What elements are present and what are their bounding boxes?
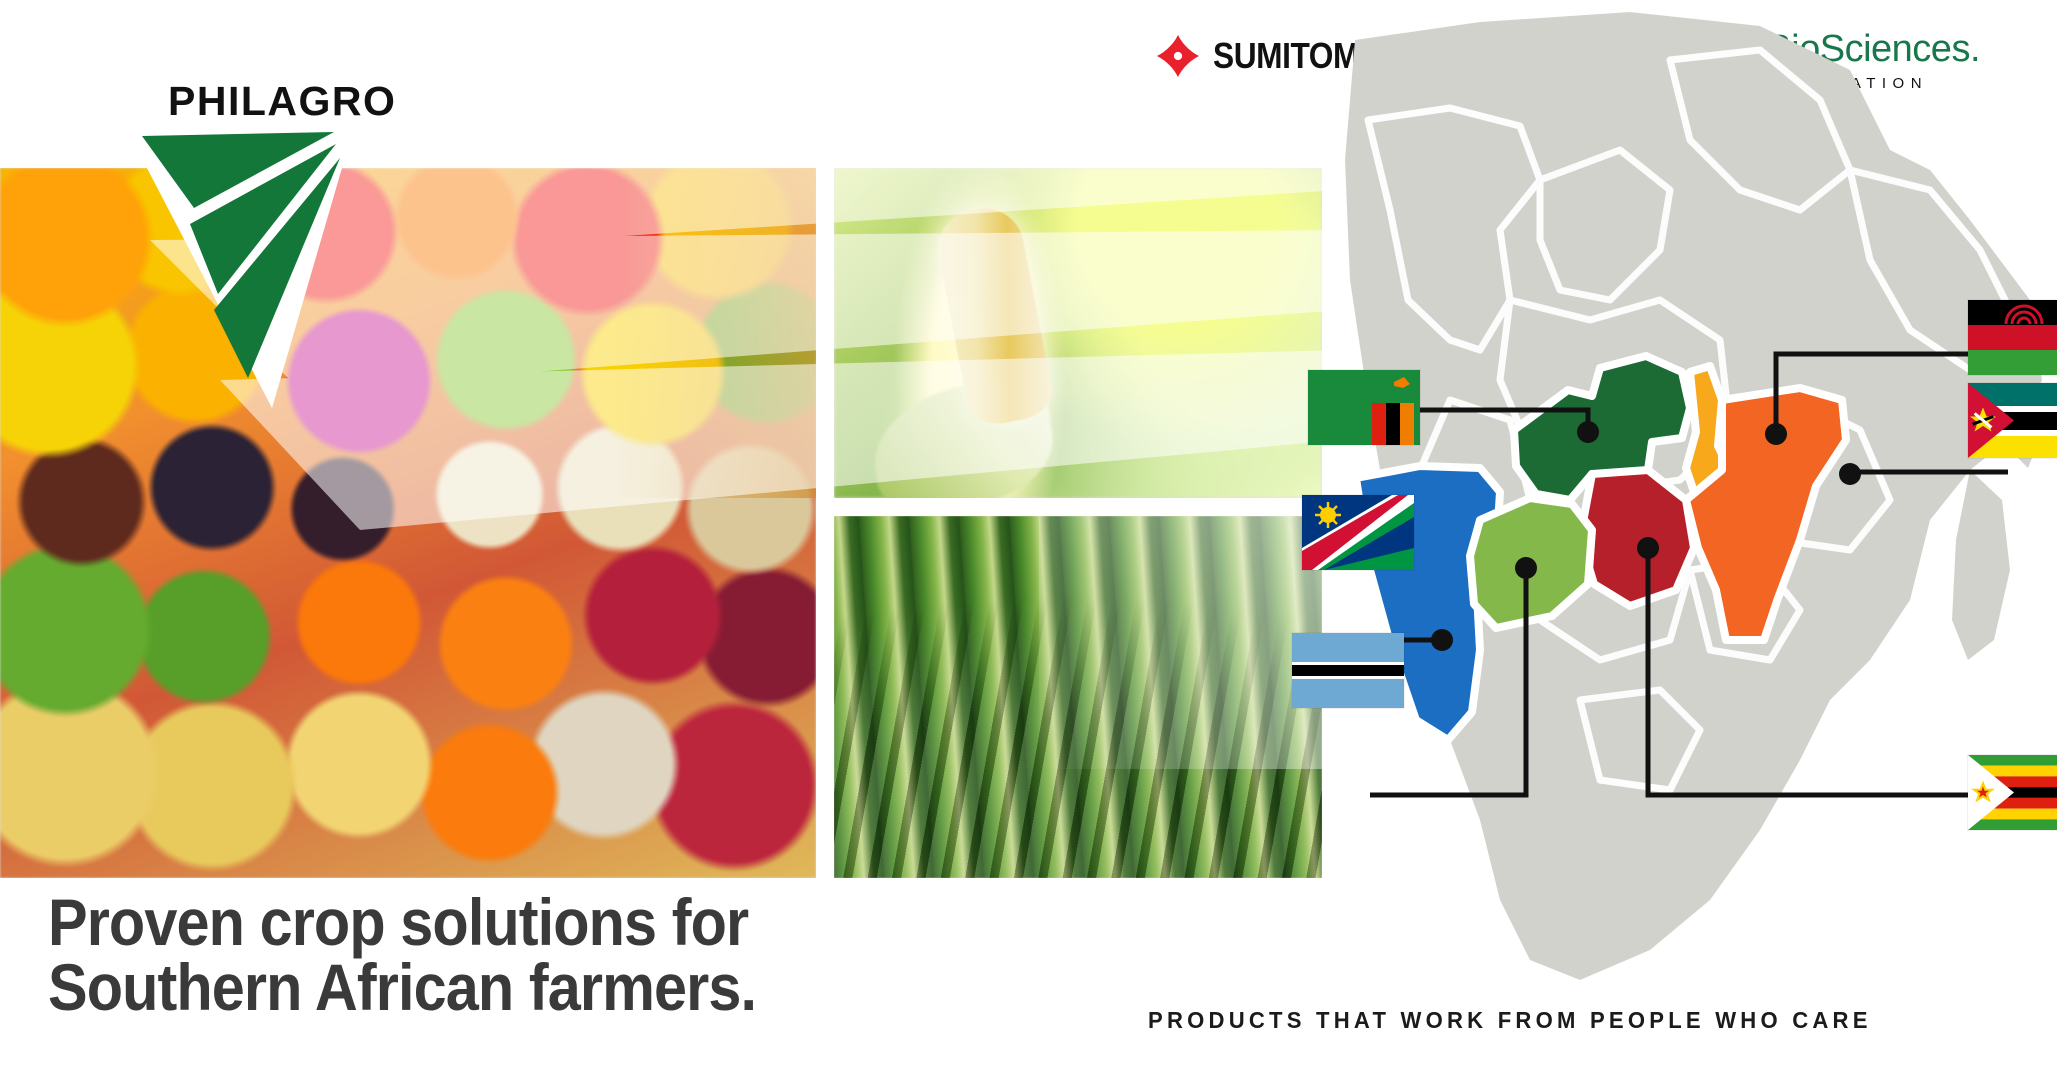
field-sun-haze [1039, 516, 1322, 769]
philagro-fan-icon [120, 78, 470, 408]
flag-zimbabwe[interactable] [1968, 755, 2057, 830]
sumitomo-diamond-icon [1155, 33, 1201, 79]
flag-zambia[interactable] [1308, 370, 1420, 445]
philagro-logo: PHILAGRO [120, 78, 470, 408]
photo-maize-cob [834, 168, 1322, 498]
headline-line-1: Proven crop solutions for [48, 890, 756, 955]
flag-mozambique[interactable] [1968, 383, 2057, 458]
flag-botswana[interactable] [1292, 633, 1404, 708]
headline-line-2: Southern African farmers. [48, 955, 756, 1020]
flag-malawi[interactable] [1968, 300, 2057, 375]
philagro-wordmark: PHILAGRO [168, 78, 396, 125]
poster-canvas: SUMITOMO CHEMICAL VALENT BioSciences. CO… [0, 0, 2057, 1080]
flag-namibia[interactable] [1302, 495, 1414, 570]
photo-soybean-field [834, 516, 1322, 878]
produce-crate [616, 168, 816, 498]
madagascar-shape [1952, 470, 2010, 660]
country-zimbabwe[interactable] [1580, 470, 1694, 606]
africa-map-svg [1330, 0, 2057, 1000]
page-title: Proven crop solutions for Southern Afric… [48, 890, 756, 1019]
africa-map [1330, 0, 2057, 1000]
tagline: PRODUCTS THAT WORK FROM PEOPLE WHO CARE [1148, 1007, 1872, 1034]
